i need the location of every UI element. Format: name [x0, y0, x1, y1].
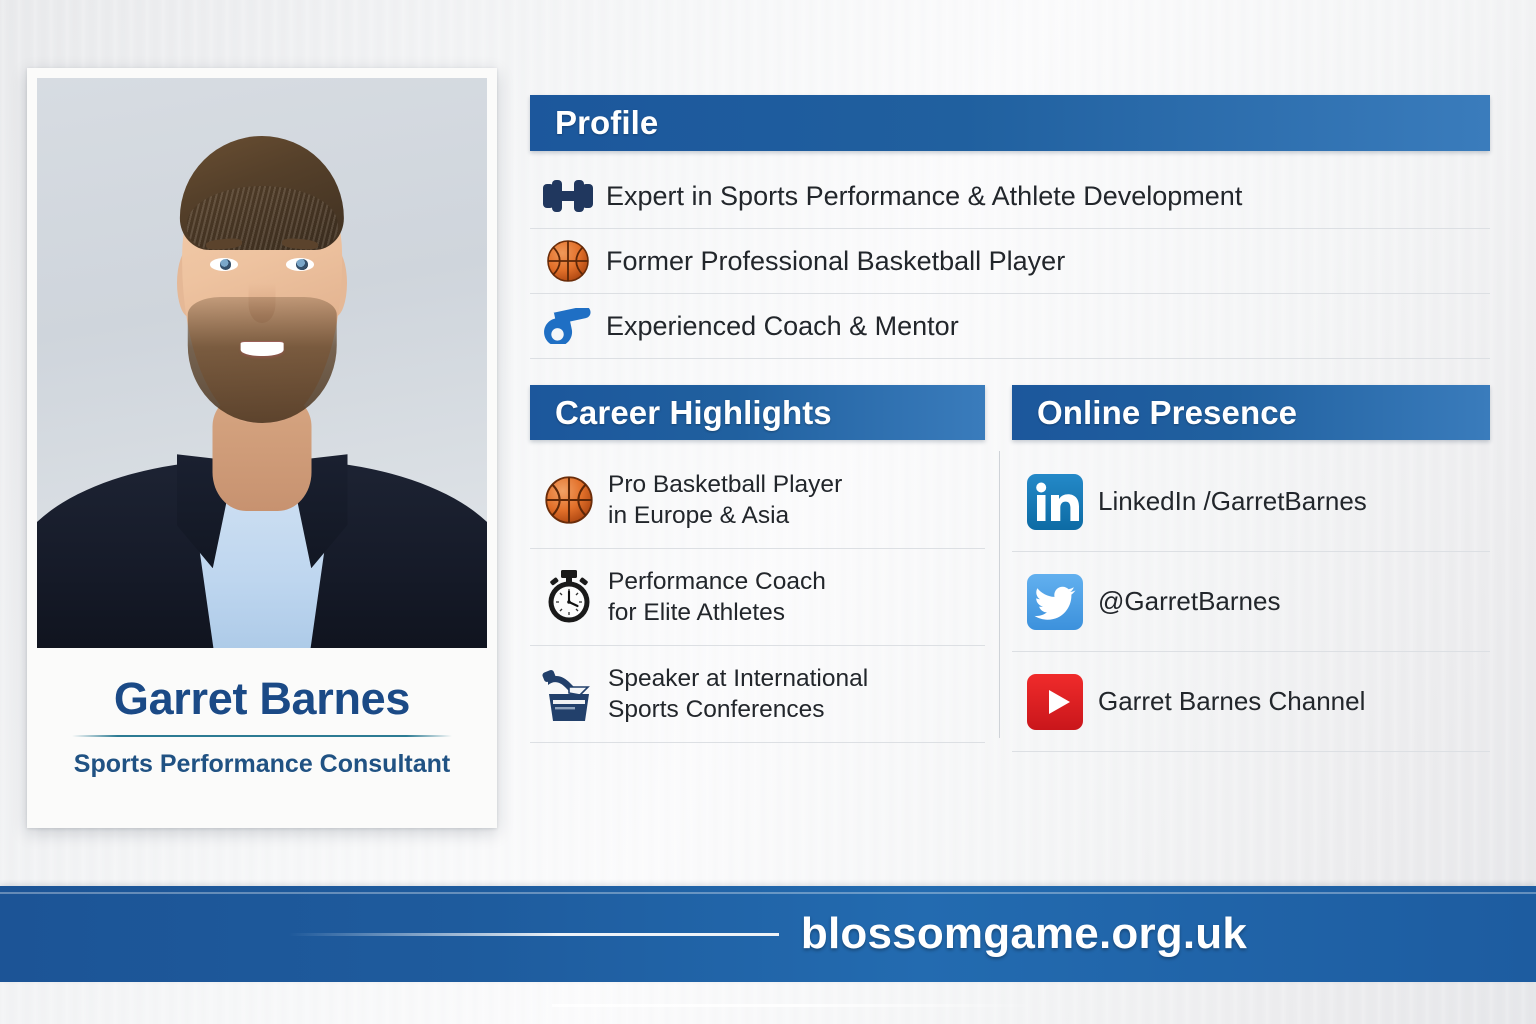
footer-rule-right: [552, 1004, 1042, 1007]
section-header-profile: Profile: [530, 95, 1490, 151]
youtube-icon[interactable]: [1012, 673, 1098, 731]
photo-card: Garret Barnes Sports Performance Consult…: [27, 68, 497, 828]
list-item[interactable]: Pro Basketball Player in Europe & Asia: [530, 452, 985, 549]
column-divider: [985, 385, 1012, 752]
online-presence-column: Online Presence: [1012, 385, 1490, 752]
list-item[interactable]: @GarretBarnes: [1012, 552, 1490, 652]
section-title-profile: Profile: [555, 104, 658, 142]
list-item-label: LinkedIn /GarretBarnes: [1098, 485, 1367, 518]
list-item-label: Performance Coach for Elite Athletes: [608, 566, 826, 629]
website-url[interactable]: blossomgame.org.uk: [801, 909, 1247, 959]
list-item-label: Garret Barnes Channel: [1098, 685, 1365, 718]
list-item-label: Former Professional Basketball Player: [606, 244, 1065, 279]
profile-list: Expert in Sports Performance & Athlete D…: [530, 164, 1490, 359]
person-name: Garret Barnes: [37, 648, 487, 721]
whistle-icon: [530, 308, 606, 344]
list-item[interactable]: Garret Barnes Channel: [1012, 652, 1490, 752]
list-item-label: Pro Basketball Player in Europe & Asia: [608, 469, 842, 532]
section-title-career-highlights: Career Highlights: [555, 394, 832, 432]
section-header-career-highlights: Career Highlights: [530, 385, 985, 440]
list-item[interactable]: Performance Coach for Elite Athletes: [530, 549, 985, 646]
list-item-label: Experienced Coach & Mentor: [606, 309, 959, 344]
list-item[interactable]: LinkedIn /GarretBarnes: [1012, 452, 1490, 552]
content-area: Profile Expert in Sports Performance & A…: [530, 95, 1490, 752]
footer-bar: blossomgame.org.uk: [0, 886, 1536, 982]
basketball-icon: [530, 475, 608, 525]
avatar: [37, 78, 487, 648]
list-item-label: @GarretBarnes: [1098, 585, 1280, 618]
podium-microphone-icon: [530, 667, 608, 721]
profile-card-slide: Garret Barnes Sports Performance Consult…: [0, 0, 1536, 1024]
list-item[interactable]: Expert in Sports Performance & Athlete D…: [530, 164, 1490, 229]
basketball-icon: [530, 239, 606, 283]
linkedin-icon[interactable]: [1012, 473, 1098, 531]
stopwatch-icon: [530, 570, 608, 624]
list-item-label: Expert in Sports Performance & Athlete D…: [606, 179, 1242, 214]
section-header-online-presence: Online Presence: [1012, 385, 1490, 440]
caption-divider: [72, 735, 452, 737]
career-highlights-list: Pro Basketball Player in Europe & Asia: [530, 452, 985, 743]
online-presence-list: LinkedIn /GarretBarnes: [1012, 452, 1490, 752]
career-highlights-column: Career Highlights: [530, 385, 985, 752]
portrait-photo: [37, 78, 487, 648]
two-column-area: Career Highlights: [530, 385, 1490, 752]
dumbbell-icon: [530, 179, 606, 213]
list-item[interactable]: Speaker at International Sports Conferen…: [530, 646, 985, 743]
twitter-icon[interactable]: [1012, 573, 1098, 631]
list-item[interactable]: Former Professional Basketball Player: [530, 229, 1490, 294]
footer-rule-left: [289, 933, 779, 936]
photo-caption: Garret Barnes Sports Performance Consult…: [37, 648, 487, 818]
list-item-label: Speaker at International Sports Conferen…: [608, 663, 868, 726]
section-title-online-presence: Online Presence: [1037, 394, 1297, 432]
person-role: Sports Performance Consultant: [37, 750, 487, 779]
list-item[interactable]: Experienced Coach & Mentor: [530, 294, 1490, 359]
